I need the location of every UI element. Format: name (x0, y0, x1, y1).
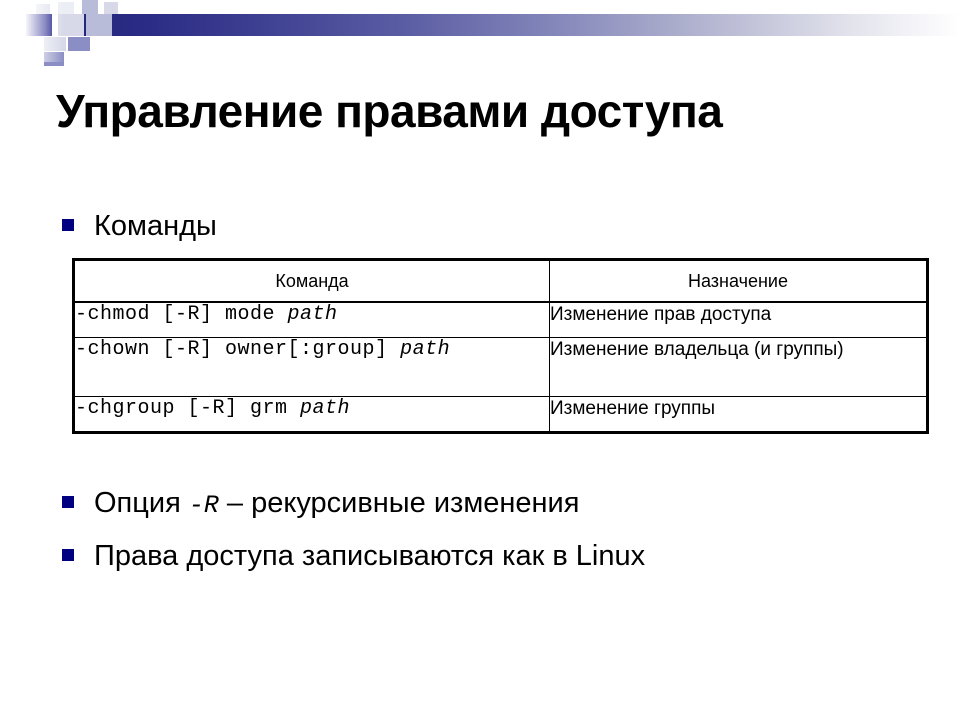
bullet-item-rights: Права доступа записываются как в Linux (62, 540, 645, 573)
deco-square (86, 14, 112, 36)
cell-purpose: Изменение группы (550, 397, 928, 433)
square-bullet-icon (62, 549, 74, 561)
table-body: -chmod [-R] mode path Изменение прав дос… (74, 302, 928, 433)
option-prefix-text: Опция (94, 487, 189, 519)
column-header-purpose: Назначение (550, 260, 928, 303)
table-row: -chown [-R] owner[:group] path Изменение… (74, 338, 928, 397)
cell-purpose: Изменение прав доступа (550, 302, 928, 338)
cell-command: -chmod [-R] mode path (74, 302, 550, 338)
commands-table: Команда Назначение -chmod [-R] mode path… (72, 258, 929, 434)
table-row: -chgroup [-R] grm path Изменение группы (74, 397, 928, 433)
table-head: Команда Назначение (74, 260, 928, 303)
slide-header-decoration (0, 0, 960, 62)
deco-left-fade (0, 0, 64, 62)
square-bullet-icon (62, 496, 74, 508)
bullet-item-commands: Команды (62, 210, 217, 243)
option-code-text: -R (189, 491, 219, 520)
command-text: -chmod [-R] mode (75, 303, 288, 326)
command-argument-italic: path (300, 397, 350, 420)
deco-square (68, 37, 90, 51)
bullet-item-option-r: Опция -R – рекурсивные изменения (62, 487, 579, 520)
header-gradient-bar (58, 14, 960, 36)
commands-table-wrapper: Команда Назначение -chmod [-R] mode path… (72, 258, 926, 434)
deco-square (104, 2, 118, 14)
square-bullet-icon (62, 219, 74, 231)
command-argument-italic: path (288, 303, 338, 326)
cell-command: -chgroup [-R] grm path (74, 397, 550, 433)
bullet-label-commands: Команды (94, 210, 217, 243)
bullet-label-option-r: Опция -R – рекурсивные изменения (94, 487, 579, 520)
page-title: Управление правами доступа (56, 84, 916, 138)
column-header-command: Команда (74, 260, 550, 303)
bullet-label-rights: Права доступа записываются как в Linux (94, 540, 645, 573)
table-row: -chmod [-R] mode path Изменение прав дос… (74, 302, 928, 338)
command-text: -chown [-R] owner[:group] (75, 338, 400, 361)
deco-square (82, 0, 98, 14)
command-argument-italic: path (400, 338, 450, 361)
command-text: -chgroup [-R] grm (75, 397, 300, 420)
cell-command: -chown [-R] owner[:group] path (74, 338, 550, 397)
table-header-row: Команда Назначение (74, 260, 928, 303)
cell-purpose: Изменение владельца (и группы) (550, 338, 928, 397)
option-suffix-text: – рекурсивные изменения (219, 487, 580, 519)
